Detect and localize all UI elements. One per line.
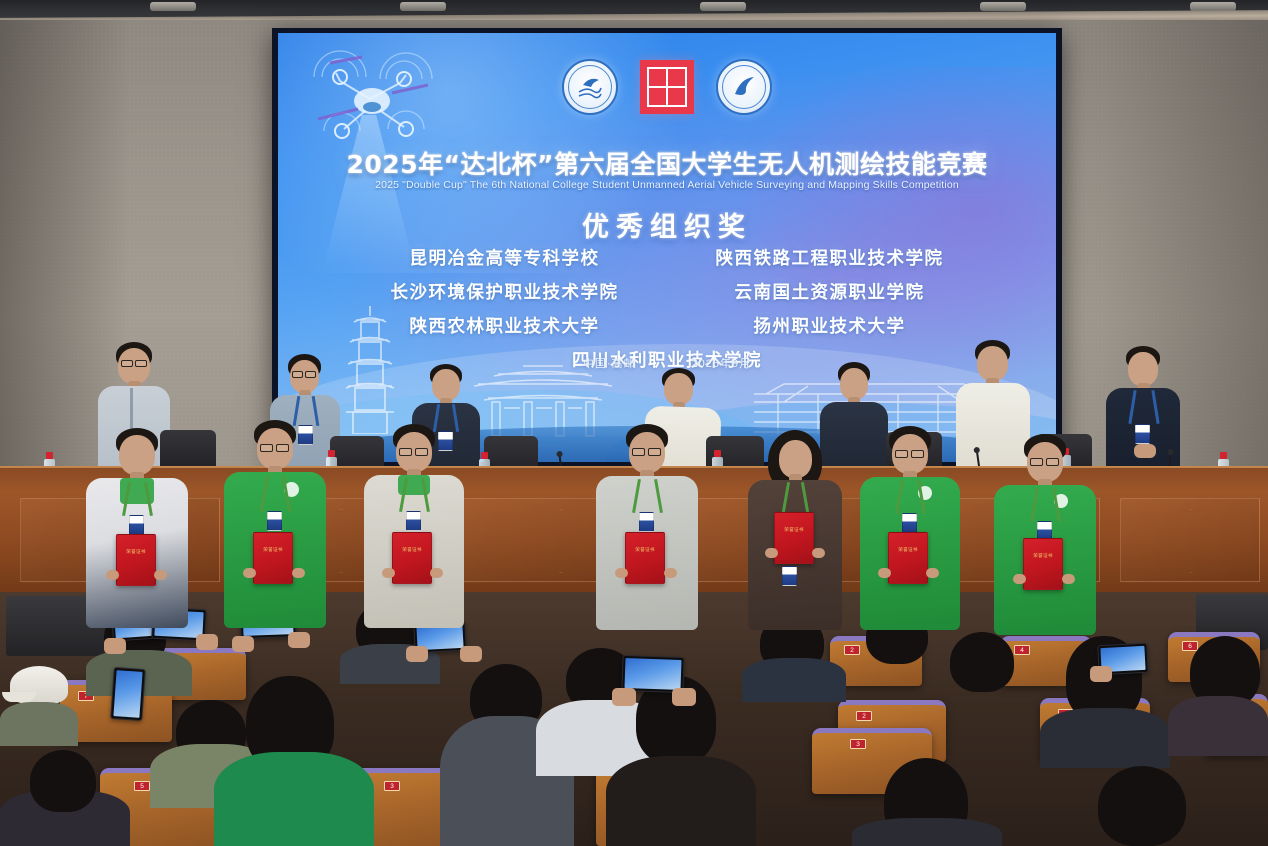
audience-cap-brim [2,692,36,702]
audience-member [30,750,96,812]
certificate-folder: 荣誉证书 [888,532,928,584]
seat-number: 2 [844,645,860,655]
school-row: 昆明冶金高等专科学校 陕西铁路工程职业技术学院 [348,245,986,270]
audience-member [852,818,1002,846]
hand [1090,666,1112,682]
ceiling-lamp [980,2,1026,11]
seat-number: 4 [1014,645,1030,655]
seat-number: 5 [134,781,150,791]
certificate-folder: 荣誉证书 [253,532,293,584]
recipient-3: 荣誉证书 [362,424,466,628]
ceiling-lamp [150,2,196,11]
certificate-folder: 荣誉证书 [625,532,665,584]
recipient-6: 荣誉证书 [858,426,962,630]
recipient-7: 荣誉证书 [992,434,1098,634]
pagoda-icon [344,304,396,434]
competition-title-cn: 2025年“达北杯”第六届全国大学生无人机测绘技能竞赛 [278,145,1056,181]
audience-member [214,752,374,846]
ceiling-lamp [700,2,746,11]
ceiling-lamp [1190,2,1236,11]
logo-row [278,59,1056,115]
seat-number: 3 [850,739,866,749]
hand [406,646,428,662]
audience-member [1098,766,1186,846]
certificate-text: 荣誉证书 [393,546,431,555]
certificate-folder: 荣誉证书 [1023,538,1063,590]
ceiling-lamp [400,2,446,11]
certificate-text: 荣誉证书 [626,546,664,555]
audience-member [742,658,846,702]
audience-member [950,632,1014,692]
recipient-5: 荣誉证书 [742,430,846,630]
hand [104,638,126,654]
hand [196,634,218,650]
audience-member [1040,708,1170,768]
school-name: 长沙环境保护职业技术学院 [362,279,647,304]
school-name: 云南国土资源职业学院 [687,279,972,304]
competition-title-en: 2025 "Double Cup" The 6th National Colle… [278,179,1056,191]
certificate-folder: 荣誉证书 [392,532,432,584]
recipient-4: 荣誉证书 [594,424,700,630]
recipient-2: 荣誉证书 [222,420,328,628]
audience-member [1168,696,1268,756]
screenshot-root: 2025年“达北杯”第六届全国大学生无人机测绘技能竞赛 2025 "Double… [0,0,1268,846]
seat-number: 3 [384,781,400,791]
certificate-text: 荣誉证书 [1024,552,1062,561]
hand [232,636,254,652]
certificate-folder: 荣誉证书 [116,534,156,586]
audience-member [0,702,78,746]
school-row: 长沙环境保护职业技术学院 云南国土资源职业学院 [348,279,986,304]
smartphone-camera[interactable] [110,667,146,721]
certificate-text: 荣誉证书 [775,526,813,535]
school-name: 陕西铁路工程职业技术学院 [687,245,972,270]
award-heading: 优秀组织奖 [278,205,1056,244]
seat-number: 2 [856,711,872,721]
hand [460,646,482,662]
audience-member [606,756,756,846]
logo-center-emblem [640,60,694,114]
certificate-text: 荣誉证书 [254,546,292,555]
hand [672,688,696,706]
logo-left-emblem [562,59,618,115]
school-name: 昆明冶金高等专科学校 [362,245,647,270]
seat-number: 6 [1182,641,1198,651]
certificate-text: 荣誉证书 [117,548,155,557]
certificate-text: 荣誉证书 [889,546,927,555]
hand [288,632,310,648]
hand [612,688,636,706]
recipient-1: 荣誉证书 [84,428,190,628]
logo-right-emblem [716,59,772,115]
table-panel [1120,498,1260,582]
certificate-folder: 荣誉证书 [774,512,814,564]
